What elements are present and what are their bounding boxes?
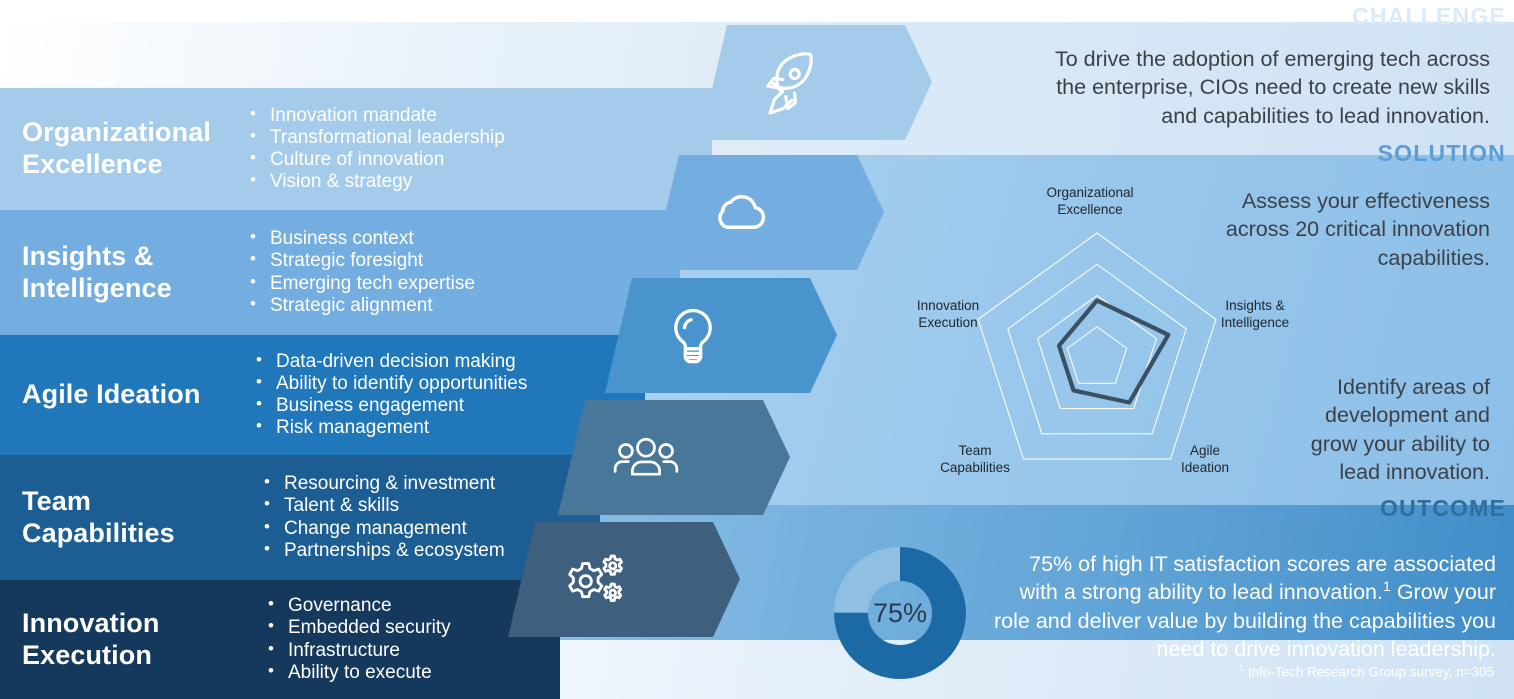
chevron-insights-intelligence	[652, 155, 884, 270]
band-item-list: Data-driven decision making Ability to i…	[252, 351, 527, 440]
gears-icon	[560, 544, 632, 616]
list-item: Strategic foresight	[246, 250, 475, 272]
chevron-organizational-excellence	[700, 25, 932, 140]
lightbulb-icon	[657, 300, 729, 372]
band-title: Organizational Excellence	[0, 117, 228, 180]
list-item: Business context	[246, 228, 475, 250]
band-title: Agile Ideation	[0, 379, 228, 411]
infographic-canvas: CHALLENGE SOLUTION OUTCOME To drive the …	[0, 0, 1514, 699]
band-title: Innovation Execution	[0, 608, 228, 671]
band-organizational-excellence[interactable]: Organizational Excellence Innovation man…	[0, 88, 712, 210]
radar-chart: OrganizationalExcellence Insights &Intel…	[880, 185, 1320, 495]
list-item: Change management	[260, 518, 505, 540]
rocket-icon	[752, 47, 824, 119]
footnote-text: Info-Tech Research Group survey, n=305	[1244, 665, 1494, 680]
list-item: Talent & skills	[260, 495, 505, 517]
list-item: Ability to execute	[264, 662, 451, 684]
band-item-list: Business context Strategic foresight Eme…	[246, 228, 475, 317]
list-item: Strategic alignment	[246, 295, 475, 317]
list-item: Embedded security	[264, 617, 451, 639]
band-title: Team Capabilities	[0, 486, 228, 549]
chevron-agile-ideation	[605, 278, 837, 393]
list-item: Culture of innovation	[246, 149, 505, 171]
list-item: Transformational leadership	[246, 127, 505, 149]
band-insights-intelligence[interactable]: Insights & Intelligence Business context…	[0, 210, 680, 335]
list-item: Partnerships & ecosystem	[260, 540, 505, 562]
band-item-list: Innovation mandate Transformational lead…	[246, 105, 505, 194]
band-team-capabilities[interactable]: Team Capabilities Resourcing & investmen…	[0, 455, 600, 580]
band-title: Insights & Intelligence	[0, 241, 228, 304]
list-item: Risk management	[252, 417, 527, 439]
list-item: Vision & strategy	[246, 171, 505, 193]
radar-gridlines	[978, 233, 1216, 459]
band-item-list: Governance Embedded security Infrastruct…	[264, 595, 451, 684]
outcome-text: 75% of high IT satisfaction scores are a…	[986, 550, 1496, 664]
radar-axis-label-insights-intelligence: Insights &Intelligence	[1200, 298, 1310, 332]
list-item: Governance	[264, 595, 451, 617]
challenge-text: To drive the adoption of emerging tech a…	[1020, 45, 1490, 130]
band-innovation-execution[interactable]: Innovation Execution Governance Embedded…	[0, 580, 560, 699]
list-item: Ability to identify opportunities	[252, 373, 527, 395]
radar-axis-label-organizational-excellence: OrganizationalExcellence	[1010, 185, 1170, 219]
radar-axis-label-agile-ideation: AgileIdeation	[1150, 443, 1260, 477]
section-label-solution: SOLUTION	[1378, 140, 1506, 167]
section-label-challenge: CHALLENGE	[1352, 3, 1506, 30]
list-item: Emerging tech expertise	[246, 273, 475, 295]
radar-axis-label-team-capabilities: TeamCapabilities	[915, 443, 1035, 477]
radar-axis-label-innovation-execution: InnovationExecution	[888, 298, 1008, 332]
list-item: Business engagement	[252, 395, 527, 417]
list-item: Innovation mandate	[246, 105, 505, 127]
donut-center-label: 75%	[834, 547, 966, 679]
list-item: Data-driven decision making	[252, 351, 527, 373]
section-label-outcome: OUTCOME	[1380, 495, 1506, 522]
people-group-icon	[610, 422, 682, 494]
band-agile-ideation[interactable]: Agile Ideation Data-driven decision maki…	[0, 335, 645, 455]
list-item: Resourcing & investment	[260, 473, 505, 495]
cloud-icon	[704, 177, 776, 249]
outcome-footnote-marker: 1	[1383, 579, 1391, 595]
footnote: 1 Info-Tech Research Group survey, n=305	[1239, 663, 1494, 680]
chevron-innovation-execution	[508, 522, 740, 637]
list-item: Infrastructure	[264, 640, 451, 662]
chevron-team-capabilities	[558, 400, 790, 515]
band-item-list: Resourcing & investment Talent & skills …	[260, 473, 505, 562]
